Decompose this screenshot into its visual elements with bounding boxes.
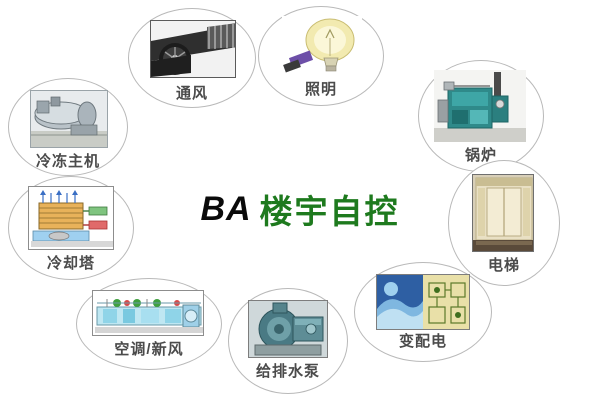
node-boiler[interactable]: 锅炉: [418, 60, 544, 172]
center-title-text: 楼宇自控: [260, 185, 400, 233]
light-bulb-photo: [282, 16, 362, 76]
node-label: 通风: [128, 82, 256, 103]
center-title: BA 楼宇自控: [150, 186, 450, 232]
chiller-unit-photo: [30, 90, 108, 148]
center-acronym: BA: [200, 190, 251, 229]
node-label: 变配电: [354, 330, 492, 351]
power-distribution-photo: [376, 274, 470, 330]
water-pump-photo: [248, 300, 328, 358]
node-chiller[interactable]: 冷冻主机: [8, 78, 128, 176]
node-label: 照明: [258, 78, 384, 99]
node-vent[interactable]: 通风: [128, 8, 256, 108]
node-label: 冷冻主机: [8, 150, 128, 171]
node-hvac[interactable]: 空调/新风: [76, 278, 222, 370]
elevator-cabin-photo: [472, 174, 534, 252]
node-label: 冷却塔: [8, 252, 134, 273]
node-power[interactable]: 变配电: [354, 262, 492, 362]
air-handling-unit-diagram: [92, 290, 204, 336]
ventilation-duct-fan-photo: [150, 20, 236, 78]
node-label: 给排水泵: [228, 360, 348, 381]
diagram-canvas: 冷冻主机: [0, 0, 600, 400]
node-cooling-tower[interactable]: 冷却塔: [8, 176, 134, 280]
node-label: 空调/新风: [76, 338, 222, 359]
node-lighting[interactable]: 照明: [258, 6, 384, 106]
node-pump[interactable]: 给排水泵: [228, 288, 348, 394]
boiler-photo: [434, 70, 526, 142]
cooling-tower-diagram: [28, 186, 114, 250]
